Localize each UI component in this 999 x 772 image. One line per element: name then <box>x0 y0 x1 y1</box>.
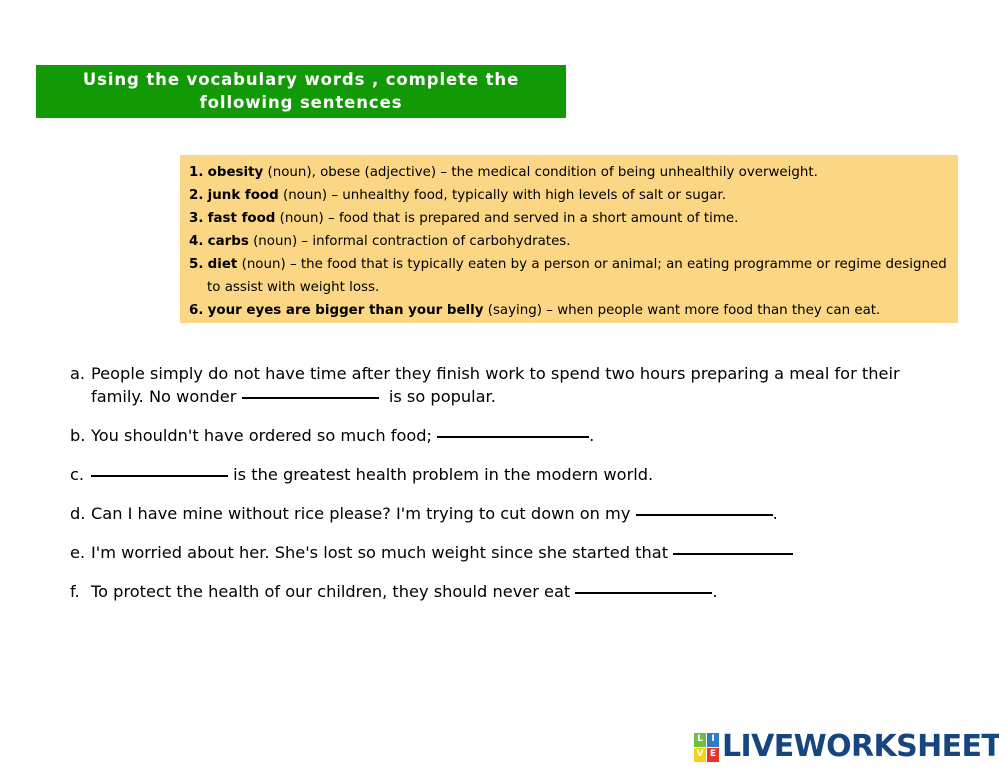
vocabulary-item-definition: (noun) – unhealthy food, typically with … <box>279 188 726 203</box>
sentence-body: I'm worried about her. She's lost so muc… <box>91 541 950 564</box>
vocabulary-item-number: 1. <box>189 165 203 180</box>
sentence-item-d: d. Can I have mine without rice please? … <box>70 502 950 525</box>
logo-tile-l: L <box>694 733 706 747</box>
vocabulary-item-number: 5. <box>189 257 203 272</box>
sentence-text-after: . <box>773 504 778 523</box>
sentence-text-after: is the greatest health problem in the mo… <box>233 465 653 484</box>
sentence-body: is the greatest health problem in the mo… <box>91 463 950 486</box>
answer-blank-f[interactable] <box>575 579 712 594</box>
vocabulary-item-definition: (noun), obese (adjective) – the medical … <box>263 165 818 180</box>
sentence-text-after: is so popular. <box>389 387 496 406</box>
sentence-text-after: . <box>712 582 717 601</box>
sentence-marker: d. <box>70 502 91 525</box>
vocabulary-item: 6. your eyes are bigger than your belly … <box>189 299 950 322</box>
answer-blank-c[interactable] <box>91 462 228 477</box>
vocabulary-item-headword: fast food <box>208 211 276 226</box>
answer-blank-d[interactable] <box>636 501 773 516</box>
vocabulary-item-headword: diet <box>208 257 238 272</box>
answer-blank-b[interactable] <box>437 423 589 438</box>
logo-tile-v: V <box>694 748 706 762</box>
logo-tile-e: E <box>707 748 719 762</box>
sentence-text-before: To protect the health of our children, t… <box>91 582 570 601</box>
vocabulary-item-headword: carbs <box>208 234 249 249</box>
sentence-body: You shouldn't have ordered so much food;… <box>91 424 950 447</box>
sentence-item-f: f. To protect the health of our children… <box>70 580 950 603</box>
answer-blank-e[interactable] <box>673 540 793 555</box>
vocabulary-item: 4. carbs (noun) – informal contraction o… <box>189 230 950 253</box>
sentence-text-before: I'm worried about her. She's lost so muc… <box>91 543 668 562</box>
sentence-item-a: a. People simply do not have time after … <box>70 362 950 408</box>
vocabulary-item: 5. diet (noun) – the food that is typica… <box>189 253 950 299</box>
vocabulary-item-number: 3. <box>189 211 203 226</box>
liveworksheets-mark-icon: L I V E <box>694 733 719 762</box>
vocabulary-item-headword: your eyes are bigger than your belly <box>208 303 484 318</box>
vocabulary-item-definition: (noun) – food that is prepared and serve… <box>275 211 738 226</box>
vocabulary-item: 1. obesity (noun), obese (adjective) – t… <box>189 161 950 184</box>
vocabulary-item-number: 4. <box>189 234 203 249</box>
vocabulary-item-definition: (noun) – informal contraction of carbohy… <box>249 234 571 249</box>
sentence-text-before: Can I have mine without rice please? I'm… <box>91 504 630 523</box>
sentence-marker: f. <box>70 580 91 603</box>
liveworksheets-wordmark: LIVEWORKSHEETS <box>722 732 999 762</box>
instruction-title: Using the vocabulary words , complete th… <box>46 69 556 114</box>
sentence-body: People simply do not have time after the… <box>91 362 950 408</box>
instruction-banner: Using the vocabulary words , complete th… <box>36 65 566 118</box>
vocabulary-item-number: 6. <box>189 303 203 318</box>
sentence-item-e: e. I'm worried about her. She's lost so … <box>70 541 950 564</box>
sentence-text-before: You shouldn't have ordered so much food; <box>91 426 432 445</box>
sentence-list: a. People simply do not have time after … <box>70 362 950 619</box>
vocabulary-item: 3. fast food (noun) – food that is prepa… <box>189 207 950 230</box>
logo-tile-i: I <box>707 733 719 747</box>
worksheet-page: Using the vocabulary words , complete th… <box>0 0 999 772</box>
sentence-item-c: c. is the greatest health problem in the… <box>70 463 950 486</box>
vocabulary-item-headword: obesity <box>208 165 264 180</box>
sentence-marker: c. <box>70 463 91 486</box>
sentence-text-after: . <box>589 426 594 445</box>
liveworksheets-logo: L I V E LIVEWORKSHEETS <box>694 729 999 765</box>
vocabulary-item-definition: (noun) – the food that is typically eate… <box>207 257 947 295</box>
vocabulary-item-definition: (saying) – when people want more food th… <box>483 303 880 318</box>
vocabulary-item-headword: junk food <box>208 188 279 203</box>
vocabulary-box: 1. obesity (noun), obese (adjective) – t… <box>180 155 958 323</box>
sentence-body: Can I have mine without rice please? I'm… <box>91 502 950 525</box>
sentence-marker: b. <box>70 424 91 447</box>
sentence-marker: e. <box>70 541 91 564</box>
vocabulary-item-number: 2. <box>189 188 203 203</box>
answer-blank-a[interactable] <box>242 384 379 399</box>
sentence-body: To protect the health of our children, t… <box>91 580 950 603</box>
sentence-item-b: b. You shouldn't have ordered so much fo… <box>70 424 950 447</box>
vocabulary-item: 2. junk food (noun) – unhealthy food, ty… <box>189 184 950 207</box>
sentence-marker: a. <box>70 362 91 385</box>
